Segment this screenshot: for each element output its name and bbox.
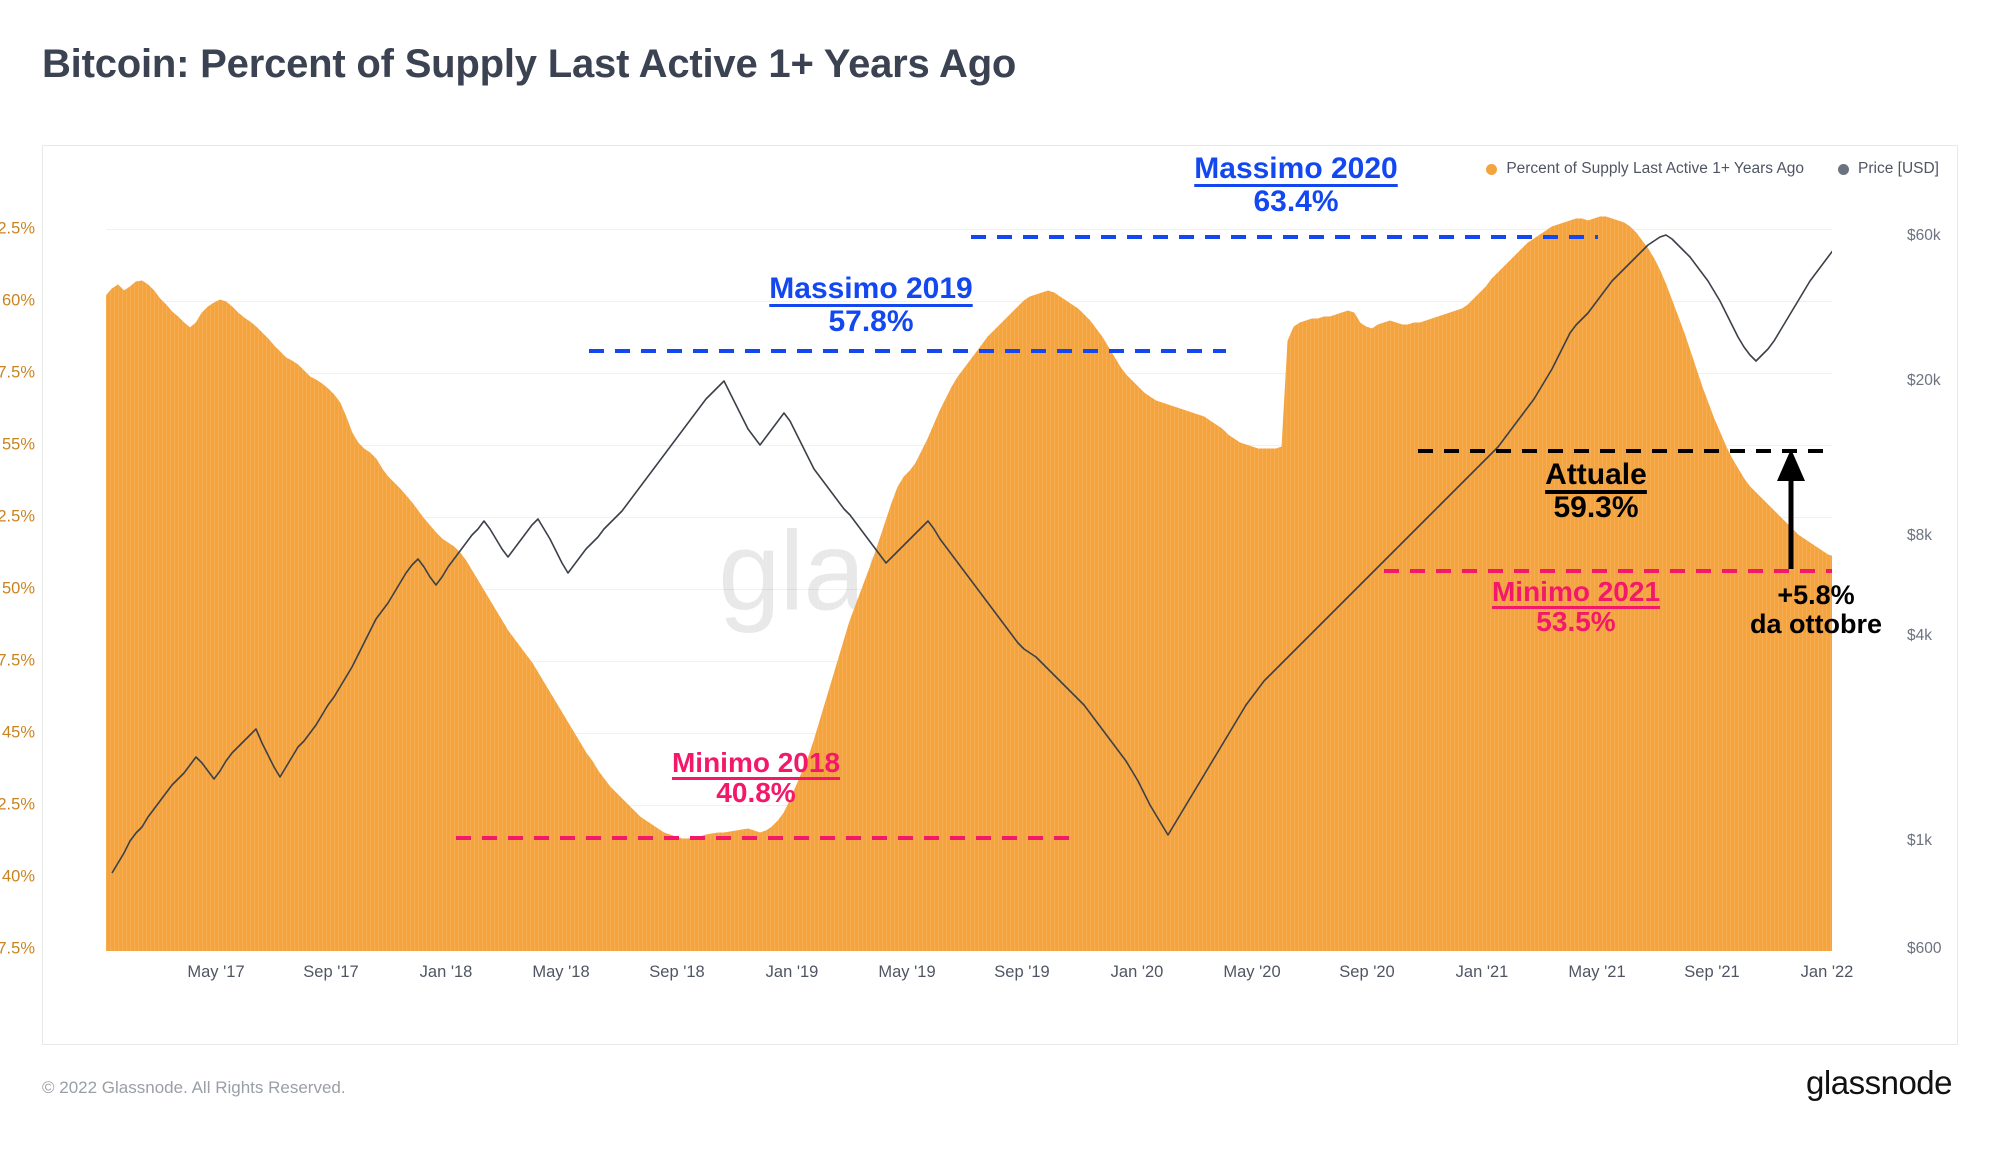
ytick-right: $1k xyxy=(1907,832,1932,850)
annotation-attuale-value: 59.3% xyxy=(1456,491,1736,525)
xtick: Jan '21 xyxy=(1456,963,1509,982)
annotation-delta-ottobre: +5.8% da ottobre xyxy=(1676,581,1956,640)
xtick: Jan '20 xyxy=(1111,963,1164,982)
plot-area: glassnode xyxy=(106,181,1832,951)
xtick: Jan '22 xyxy=(1801,963,1854,982)
annotation-delta-value: +5.8% xyxy=(1676,581,1956,609)
glassnode-logo: glassnode xyxy=(1806,1064,1952,1102)
legend-label-price: Price [USD] xyxy=(1858,160,1939,178)
ytick-left: 45% xyxy=(0,724,35,743)
xtick: Jan '18 xyxy=(420,963,473,982)
legend-dot-price xyxy=(1838,164,1849,175)
ytick-left: 57.5% xyxy=(0,364,35,383)
ytick-left: 52.5% xyxy=(0,508,35,527)
ytick-left: 40% xyxy=(0,868,35,887)
ytick-left: 55% xyxy=(0,436,35,455)
legend-label-supply: Percent of Supply Last Active 1+ Years A… xyxy=(1506,160,1804,178)
annotation-massimo-2020-title: Massimo 2020 xyxy=(1116,153,1476,185)
chart-legend: Percent of Supply Last Active 1+ Years A… xyxy=(1486,160,1939,178)
xtick: Sep '17 xyxy=(303,963,358,982)
chart-card: Percent of Supply Last Active 1+ Years A… xyxy=(42,145,1958,1045)
ytick-left: 62.5% xyxy=(0,220,35,239)
legend-dot-supply xyxy=(1486,164,1497,175)
annotation-massimo-2020-value: 63.4% xyxy=(1116,185,1476,219)
annotation-massimo-2019: Massimo 2019 57.8% xyxy=(691,273,1051,338)
annotation-massimo-2019-title: Massimo 2019 xyxy=(691,273,1051,305)
ytick-right: $60k xyxy=(1907,227,1941,245)
xtick: Sep '21 xyxy=(1684,963,1739,982)
annotation-attuale-title: Attuale xyxy=(1456,459,1736,491)
annotation-massimo-2020: Massimo 2020 63.4% xyxy=(1116,153,1476,218)
ytick-right: $20k xyxy=(1907,372,1941,390)
ytick-left: 50% xyxy=(0,580,35,599)
ytick-left: 47.5% xyxy=(0,652,35,671)
annotation-massimo-2019-value: 57.8% xyxy=(691,305,1051,339)
page-title: Bitcoin: Percent of Supply Last Active 1… xyxy=(42,42,1016,87)
xtick: Sep '20 xyxy=(1339,963,1394,982)
annotation-minimo-2018: Minimo 2018 40.8% xyxy=(576,748,936,809)
xtick: May '17 xyxy=(187,963,244,982)
legend-item-supply[interactable]: Percent of Supply Last Active 1+ Years A… xyxy=(1486,160,1804,178)
xtick: May '21 xyxy=(1568,963,1625,982)
ytick-right: $600 xyxy=(1907,940,1941,958)
ytick-left: 42.5% xyxy=(0,796,35,815)
legend-item-price[interactable]: Price [USD] xyxy=(1838,160,1939,178)
xtick: May '19 xyxy=(878,963,935,982)
ytick-left: 37.5% xyxy=(0,940,35,959)
annotation-minimo-2018-value: 40.8% xyxy=(576,777,936,808)
xtick: Jan '19 xyxy=(766,963,819,982)
ytick-right: $8k xyxy=(1907,527,1932,545)
ytick-left: 60% xyxy=(0,292,35,311)
xtick: Sep '19 xyxy=(994,963,1049,982)
annotation-minimo-2018-title: Minimo 2018 xyxy=(576,748,936,777)
copyright-text: © 2022 Glassnode. All Rights Reserved. xyxy=(42,1078,346,1098)
annotation-attuale: Attuale 59.3% xyxy=(1456,459,1736,524)
annotation-delta-label: da ottobre xyxy=(1676,609,1956,639)
xtick: Sep '18 xyxy=(649,963,704,982)
xtick: May '18 xyxy=(532,963,589,982)
xtick: May '20 xyxy=(1223,963,1280,982)
